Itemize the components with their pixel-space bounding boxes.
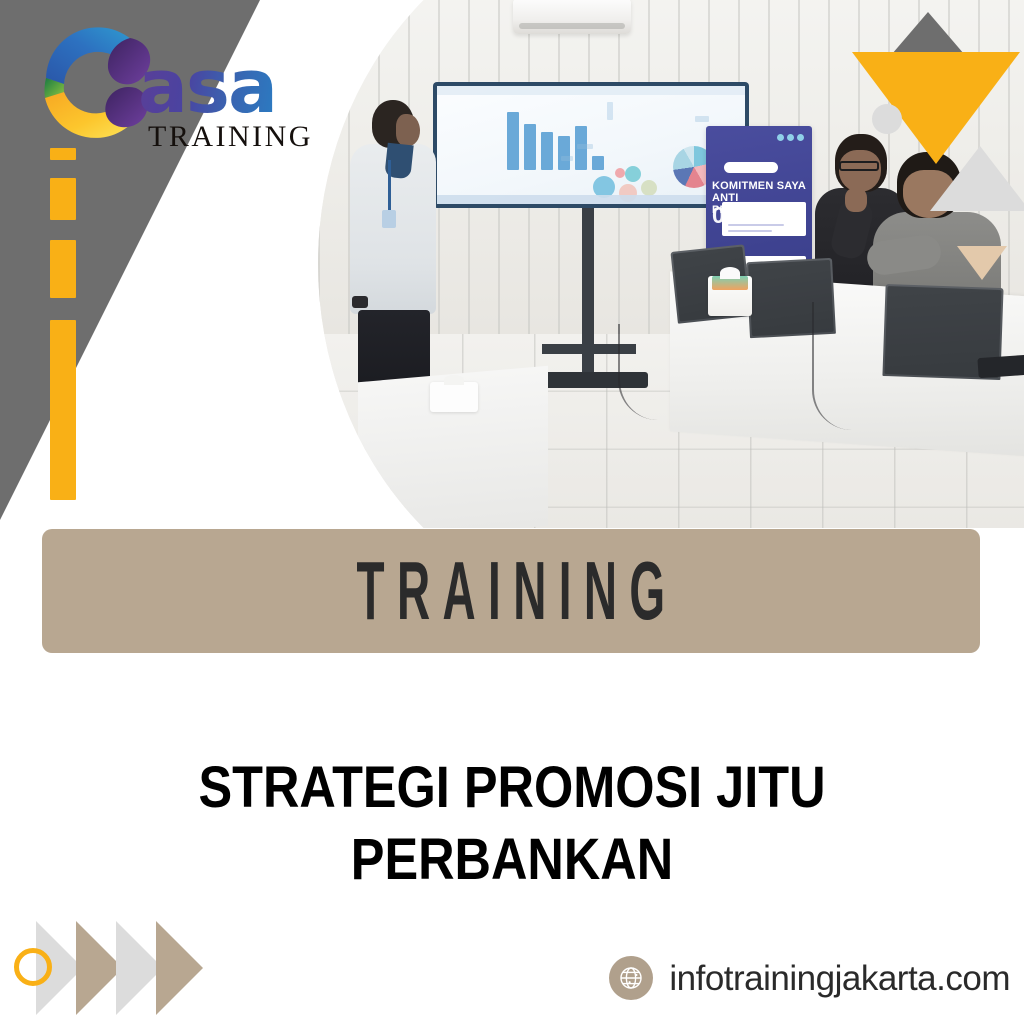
casa-training-logo: asa TRAINING (28, 12, 348, 162)
website-footer[interactable]: infotrainingjakarta.com (609, 956, 1010, 1000)
air-conditioner (513, 0, 631, 34)
training-banner: TRAINING (42, 529, 980, 653)
left-tissue-box (430, 382, 478, 412)
smartphone-on-table (977, 354, 1024, 378)
screen-toolbar (437, 86, 745, 95)
website-url-text[interactable]: infotrainingjakarta.com (669, 961, 1010, 996)
dash-bar-2 (50, 178, 76, 220)
screen-bar-chart (507, 108, 604, 170)
rollup-title-line1: KOMITMEN SAYA (712, 180, 806, 192)
presentation-screen (433, 82, 749, 208)
dash-bar-4 (50, 320, 76, 500)
training-banner-label: TRAINING (344, 550, 677, 633)
circle-gray-icon (872, 104, 902, 134)
orange-ring-icon (14, 948, 52, 986)
dash-bar-3 (50, 240, 76, 298)
logo-word-training: TRAINING (148, 122, 313, 152)
page-title-line-2: PERBANKAN (67, 824, 958, 896)
screen-taskbar (437, 195, 745, 204)
cable-right (812, 302, 854, 430)
logo-word-asa: asa (138, 50, 276, 124)
triangle-down-tan-icon (957, 246, 1007, 280)
poster-canvas: KOMITMEN SAYA ANTI PENYUAPAN 01 02 (0, 0, 1024, 1024)
tissue-box (708, 276, 752, 316)
page-title-line-1: STRATEGI PROMOSI JITU (67, 752, 958, 824)
screen-stand-pole (582, 194, 594, 384)
globe-icon (609, 956, 653, 1000)
chevron-4 (156, 921, 203, 1015)
triangle-up-light-gray-icon (930, 146, 1024, 211)
presenter-person (344, 100, 440, 400)
page-title: STRATEGI PROMOSI JITU PERBANKAN (67, 752, 958, 896)
